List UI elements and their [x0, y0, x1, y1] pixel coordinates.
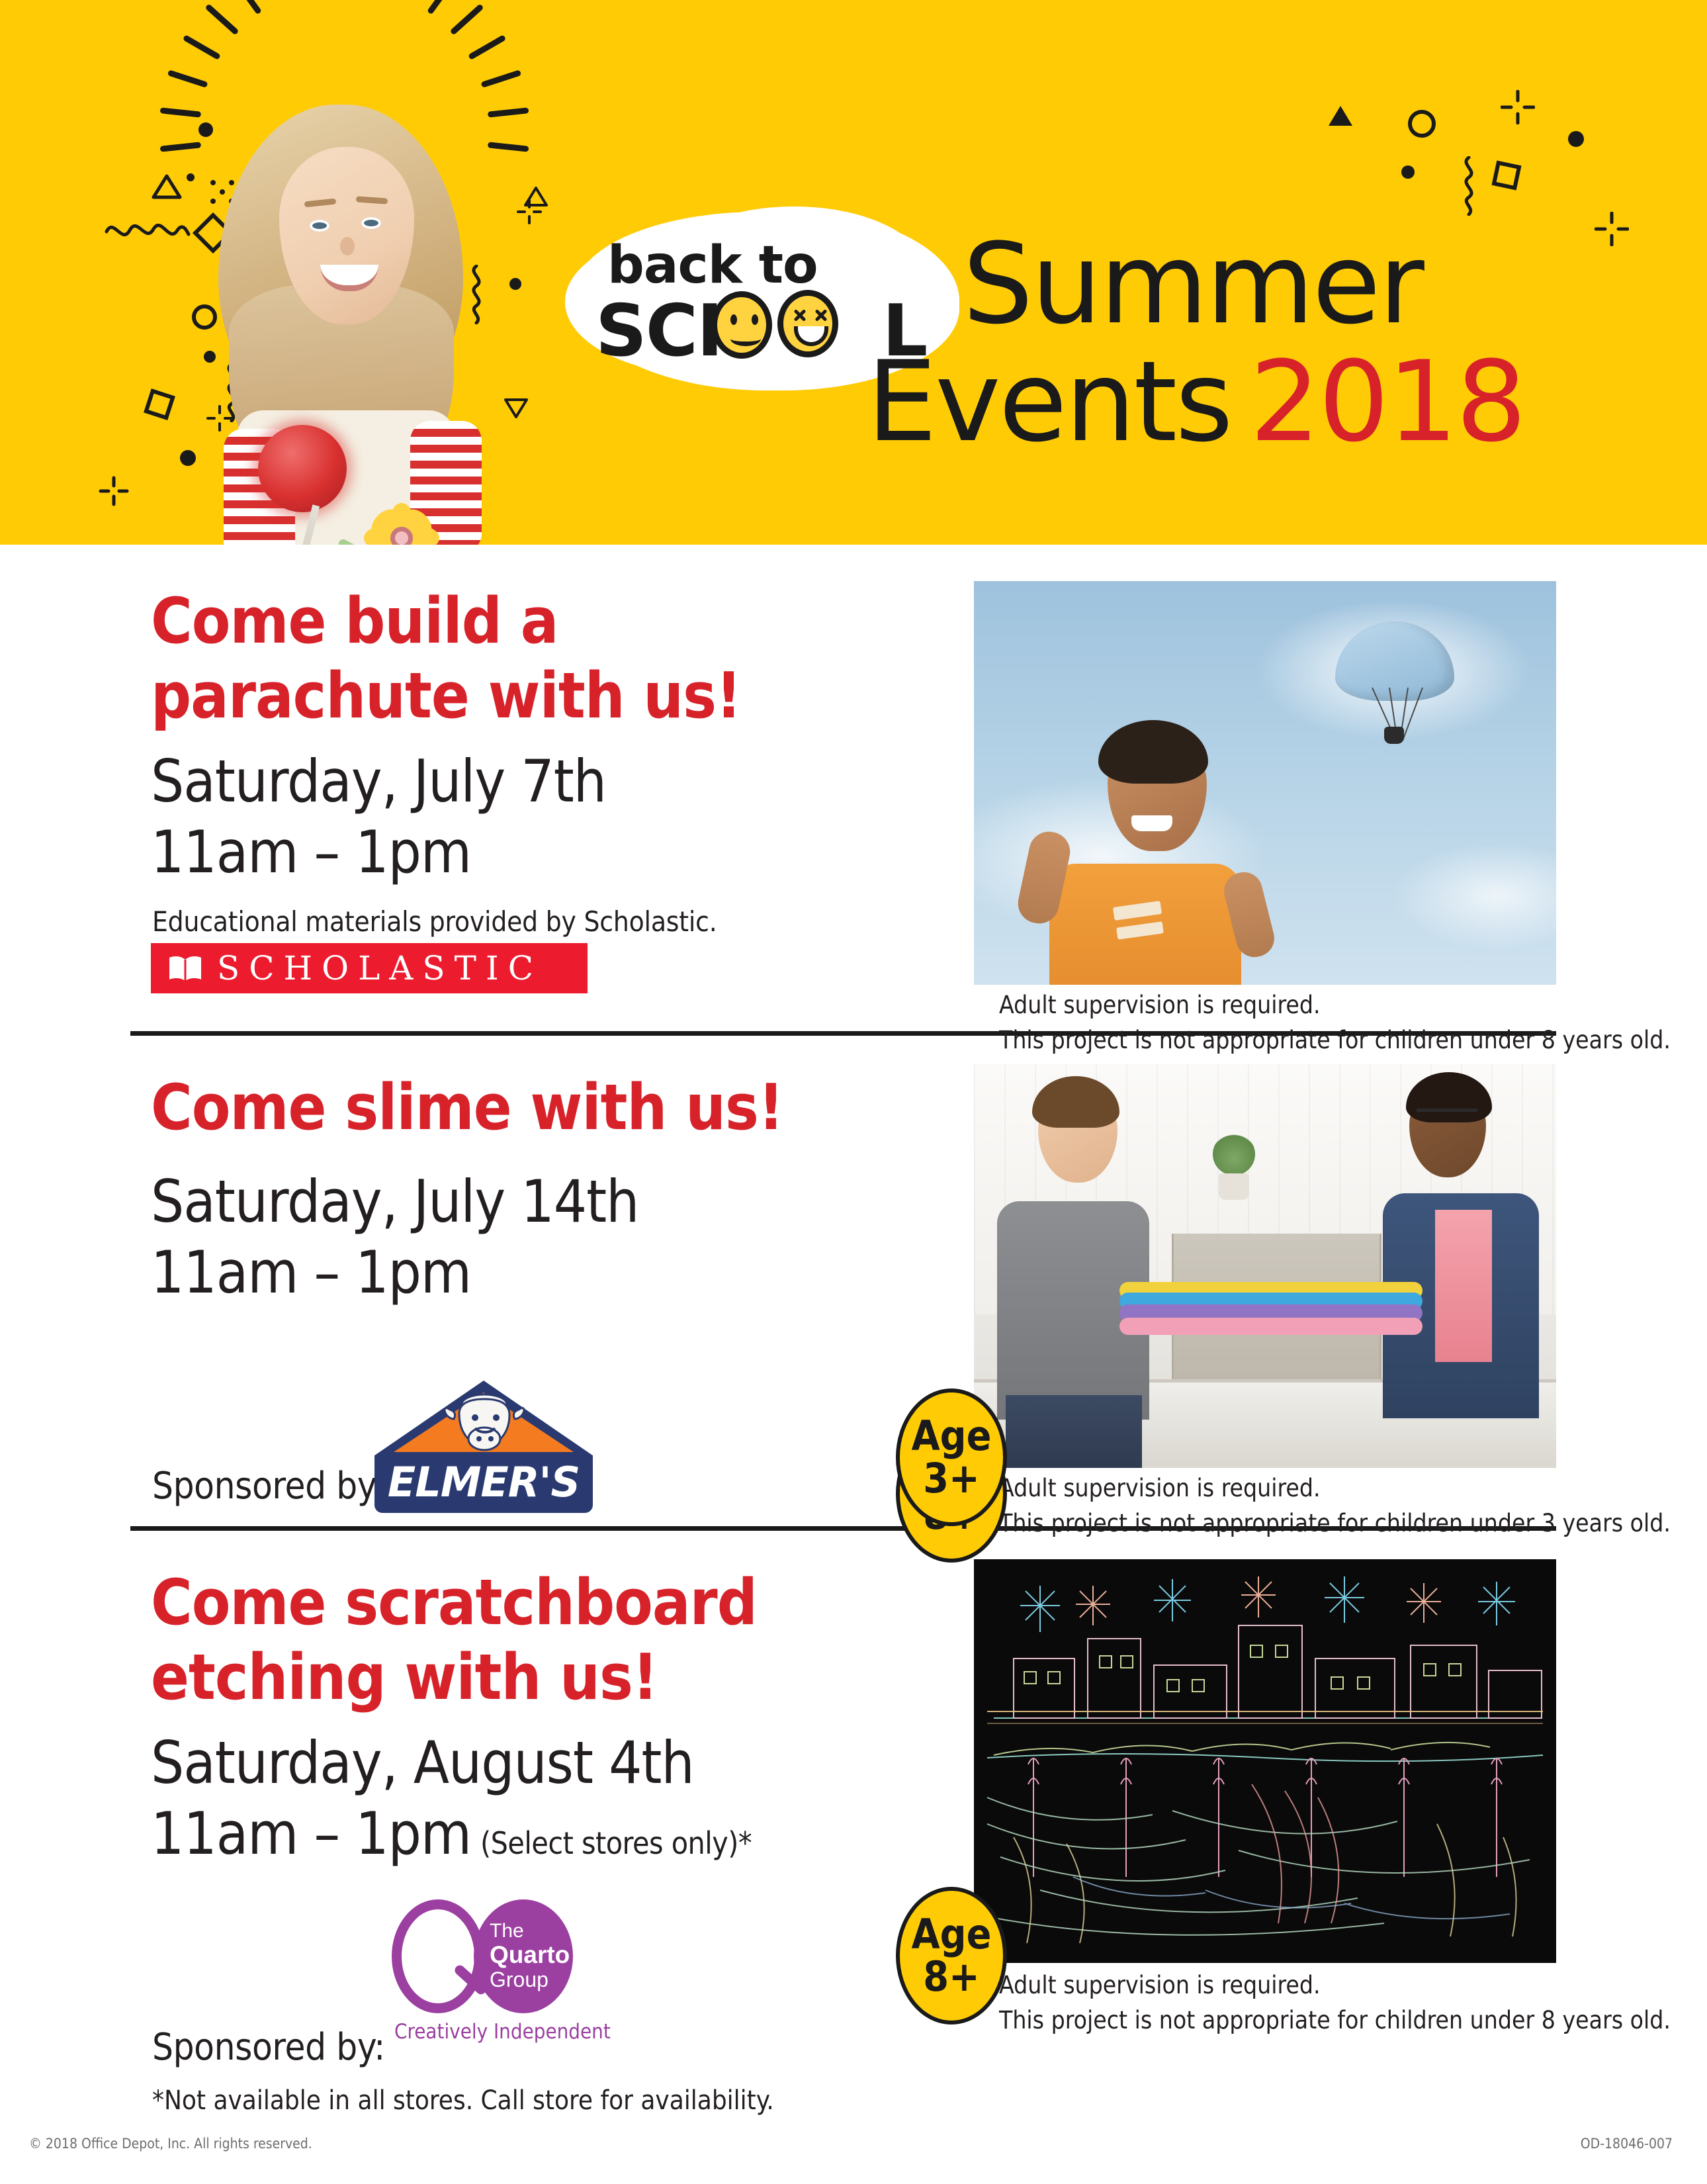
dot-doodle-icon — [1568, 131, 1584, 147]
poster-page: back to SCHL Summer Events2018 Come buil… — [0, 0, 1707, 2184]
elmers-wordmark: ELMER'S — [374, 1458, 593, 1506]
event-2-time: 11am – 1pm — [151, 1238, 471, 1308]
event-3-age-badge: Age 8+ — [896, 1887, 1007, 2025]
event-1-note: Educational materials provided by Schola… — [152, 905, 717, 938]
event-section-1: Come build a parachute with us! Saturday… — [0, 545, 1707, 1031]
scholastic-wordmark: SCHOLASTIC — [217, 952, 543, 985]
event-3-sponsor-label: Sponsored by: — [152, 2026, 385, 2069]
event-1-date: Saturday, July 7th — [151, 747, 606, 817]
letter-q-icon — [392, 1899, 484, 2013]
sparkle-doodle-icon — [98, 475, 130, 507]
event-3-select-stores-note: (Select stores only)* — [480, 1825, 752, 1861]
slime-band-pink — [1119, 1318, 1422, 1335]
event-1-headline: Come build a parachute with us! — [151, 584, 846, 734]
emoji-mouth-open — [794, 326, 828, 346]
age-badge-label: Age — [912, 1415, 992, 1457]
disclaimer-line-2: This project is not appropriate for chil… — [999, 1023, 1671, 1058]
age-badge-value: 8+ — [923, 1956, 980, 1998]
back-to-school-logo: back to SCHL — [576, 212, 959, 390]
boy-smile — [1131, 815, 1172, 831]
girl-eye-right — [361, 217, 381, 229]
event-1-time: 11am – 1pm — [151, 817, 471, 887]
girl-eye-left — [310, 220, 329, 232]
laughing-face-icon — [777, 290, 838, 357]
girl-eyebrow-right — [356, 196, 388, 204]
plant-pot — [1219, 1173, 1249, 1200]
logo-back-to-text: back to — [607, 236, 818, 295]
event-section-3: Come scratchboard etching with us! Satur… — [0, 1526, 1707, 2109]
disclaimer-line-1: Adult supervision is required. — [999, 988, 1671, 1023]
pom-pom-pen-top — [258, 425, 347, 512]
quarto-wordmark: The Quarto Group — [490, 1921, 569, 1991]
scratchboard-artwork — [974, 1559, 1556, 1963]
girl-smile — [320, 265, 378, 291]
boy-jeans — [1006, 1395, 1142, 1468]
square-doodle-icon — [1491, 160, 1521, 190]
event-1-photo — [974, 581, 1556, 985]
footer-copyright: © 2018 Office Depot, Inc. All rights res… — [29, 2136, 312, 2152]
quarto-group-text: Group — [490, 1968, 569, 1991]
open-book-icon — [168, 954, 202, 982]
triangle-doodle-icon — [1329, 106, 1352, 126]
emoji-eye-squint — [814, 308, 828, 322]
event-3-headline: Come scratchboard etching with us! — [151, 1566, 846, 1715]
event-section-2: Come slime with us! Saturday, July 14th … — [0, 1031, 1707, 1526]
availability-footnote: *Not available in all stores. Call store… — [152, 2085, 774, 2116]
elmers-logo: ELMER'S — [374, 1381, 593, 1513]
boy-hair — [1098, 720, 1208, 784]
flower-pen-top — [367, 503, 437, 545]
sparkle-doodle-icon — [1501, 90, 1535, 124]
disclaimer-line-2: This project is not appropriate for chil… — [999, 1506, 1671, 1541]
event-2-date: Saturday, July 14th — [151, 1167, 638, 1237]
girl-pink-top — [1435, 1210, 1492, 1362]
emoji-eye — [752, 314, 758, 325]
event-2-age-badge: Age 3+ — [896, 1388, 1007, 1526]
event-3-disclaimer: Adult supervision is required. This proj… — [999, 1968, 1671, 2038]
smiling-face-icon — [711, 291, 772, 359]
circle-doodle-icon — [1408, 110, 1436, 138]
emoji-mouth — [730, 332, 761, 346]
emoji-eye-squint — [793, 308, 807, 322]
hero-photo-girl — [180, 99, 498, 545]
colorful-slime — [1119, 1282, 1422, 1336]
quarto-tagline: Creatively Independent — [394, 2020, 613, 2044]
logo-l-text: L — [882, 290, 926, 373]
flower-center — [390, 527, 413, 545]
event-2-sponsored-by-label: Sponsored by: — [152, 1465, 385, 1508]
event-3-photo — [974, 1559, 1556, 1963]
girl-eyebrow-left — [304, 199, 337, 208]
disclaimer-line-1: Adult supervision is required. — [999, 1968, 1671, 2003]
age-badge-label: Age — [912, 1913, 992, 1956]
footer-code: OD-18046-007 — [1581, 2136, 1673, 2152]
header-banner: back to SCHL Summer Events2018 — [0, 0, 1707, 545]
event-3-time: 11am – 1pm — [151, 1799, 471, 1869]
scholastic-logo: SCHOLASTIC — [151, 943, 588, 993]
disclaimer-line-1: Adult supervision is required. — [999, 1471, 1671, 1506]
girl-nose — [340, 237, 355, 255]
parachute-payload — [1384, 727, 1404, 744]
glasses-icon — [1417, 1109, 1477, 1122]
event-2-headline: Come slime with us! — [151, 1071, 783, 1146]
banner-title-line1: Summer — [963, 233, 1422, 336]
event-3-time-row: 11am – 1pm (Select stores only)* — [151, 1799, 752, 1869]
squiggle-doodle-icon — [1456, 156, 1482, 216]
bull-head-icon — [439, 1390, 529, 1459]
emoji-eye — [730, 314, 737, 325]
event-2-photo — [974, 1064, 1556, 1468]
event-2-disclaimer: Adult supervision is required. This proj… — [999, 1471, 1671, 1541]
potted-plant — [1213, 1133, 1255, 1175]
banner-title-line2: Events2018 — [867, 351, 1524, 453]
quarto-the-text: The — [490, 1921, 569, 1942]
dot-doodle-icon — [1401, 165, 1415, 179]
sparkle-doodle-icon — [1595, 212, 1629, 246]
quarto-group-logo: The Quarto Group Creatively Independent — [389, 1897, 607, 2023]
event-1-disclaimer: Adult supervision is required. This proj… — [999, 988, 1671, 1058]
age-badge-value: 3+ — [923, 1457, 980, 1500]
banner-title-year: 2018 — [1250, 337, 1525, 467]
event-3-date: Saturday, August 4th — [151, 1728, 694, 1798]
quarto-quarto-text: Quarto — [490, 1942, 569, 1968]
disclaimer-line-2: This project is not appropriate for chil… — [999, 2003, 1671, 2038]
